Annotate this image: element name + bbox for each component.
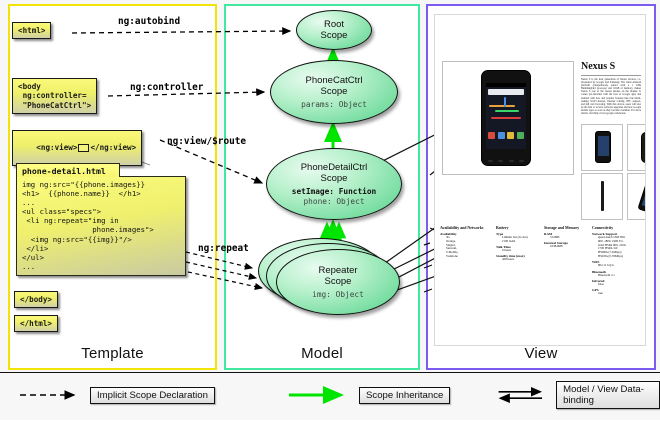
thumb-1-phone [595,131,611,163]
code-box-html-open: <html> [12,22,51,39]
app-icon-4 [517,132,524,139]
app-icon-1 [488,132,495,139]
edge-label-controller: ng:controller [130,82,203,93]
legend-item-data-binding: Model / View Data-binding [497,385,660,405]
scope-detail-line2: Scope [321,173,348,184]
nav-key-search [509,160,514,162]
phone-illustration [481,70,531,166]
thumbnail-phone-back[interactable] [627,124,646,171]
spec-val-2-1: 16384MB [544,245,592,249]
edge-label-autobind: ng:autobind [118,16,180,27]
callout-filename: phone-detail.html [16,163,120,177]
spec-val-3-2: Bluetooth 2.1 [592,274,642,278]
scope-phonedetailctrl: PhoneDetailCtrl Scope setImage: Function… [266,148,402,220]
code-box-body-open: <body ng:controller= "PhoneCatCtrl"> [12,78,97,114]
wallpaper-line-1 [489,105,515,107]
ngview-placeholder-icon [78,144,89,152]
rendered-view-page: Nexus S Nexus S is the next generation o… [434,14,646,346]
phone-screen [486,83,526,149]
spec-column-connectivity: Connectivity Network Support Quad-band G… [592,226,642,296]
product-title: Nexus S [581,61,615,72]
legend-label-implicit-scope: Implicit Scope Declaration [90,387,215,404]
scope-detail-prop-setimage-text: setImage: Function [292,187,377,196]
spec-val-3-0: Quad-band GSM 850, 900, 1800, 1900 Tri- … [592,236,642,259]
app-icon-2 [498,132,505,139]
spec-val-1-0: Lithium Ion (Li-Ion) 1500 mAh [496,236,544,244]
spec-val-3-1: 802.11 b/g/n [592,264,642,268]
spec-heading-2: Storage and Memory [544,226,592,231]
code-box-ngview: <ng:view></ng:view> [12,130,142,166]
scope-detail-prop-phone: phone: Object [303,197,364,206]
thumb-4-phone [637,178,646,213]
scope-repeater-prop-img: img: Object [312,290,364,299]
nav-key-menu [498,160,503,162]
green-arrow-icon [287,385,353,405]
wallpaper-line-4 [504,97,506,107]
thumb-1-screen [598,136,609,156]
ngview-close-tag: </ng:view> [90,143,136,152]
thumb-2-phone [641,132,646,163]
scope-root: Root Scope [296,10,372,50]
app-icon-3 [507,132,514,139]
spec-val-1-1: 6 hours [496,249,544,253]
edge-label-route: ng:view/$route [167,136,246,147]
title-divider [581,75,641,76]
spec-heading-0: Availability and Networks [440,226,492,231]
scope-repeater-line1: Repeater [318,265,357,276]
template-partial-callout: phone-detail.html img ng:src="{{phone.im… [16,163,186,276]
legend-item-implicit-scope: Implicit Scope Declaration [18,385,215,405]
spec-val-1-2: 428 hours [496,258,544,262]
ngview-open-tag: <ng:view> [36,143,77,152]
product-description: Nexus S is the next generation of Nexus … [581,78,641,115]
diagram-canvas: Template Model View [0,0,660,420]
callout-code: img ng:src="{{phone.images}} <h1> {{phon… [16,176,186,276]
code-box-html-close: </html> [14,315,58,332]
scope-detail-prop-setimage: setImage: Function [292,187,377,196]
spec-val-0-1: Orange, Singtel, Suncom, T-Mobile, Vodaf… [440,240,492,259]
scope-cat-prop-params: params: Object [301,100,367,109]
phone-search-widget [488,89,524,95]
phone-statusbar [486,83,526,87]
spec-heading-1: Battery [496,226,544,231]
thumbnail-phone-side[interactable] [581,173,623,220]
scope-phonecatctrl: PhoneCatCtrl Scope params: Object [270,60,398,124]
code-box-body-close: </body> [14,291,58,308]
spec-column-storage: Storage and Memory RAM 512MB Internal St… [544,226,592,249]
nav-key-home [519,160,524,162]
edge-label-repeat: ng:repeat [198,243,249,254]
spec-val-3-3: false [592,283,642,287]
phone-nav-keys [485,157,527,164]
thumb-4-screen [641,190,646,208]
scope-root-line1: Root [324,19,344,30]
panel-model-label: Model [226,345,418,362]
wallpaper-line-2 [495,110,519,112]
double-arrow-icon [497,385,550,405]
panel-view-label: View [428,345,654,362]
dashed-arrow-icon [18,385,84,405]
scope-cat-line2: Scope [321,86,348,97]
panel-template-label: Template [10,345,215,362]
phone-app-row [487,131,525,140]
scope-repeater-line2: Scope [325,276,352,287]
thumb-3-phone-edge [601,181,604,211]
spec-column-availability: Availability and Networks Availability 3… [440,226,492,259]
legend-label-data-binding: Model / View Data-binding [556,381,660,409]
spec-heading-3: Connectivity [592,226,642,231]
thumbnail-phone-angled[interactable] [627,173,646,220]
thumbnail-phone-front[interactable] [581,124,623,171]
nav-key-back [488,160,493,162]
legend: Implicit Scope Declaration Scope Inherit… [0,372,660,421]
scope-detail-line1: PhoneDetailCtrl [301,162,368,173]
scope-root-line2: Scope [321,30,348,41]
scope-repeater: Repeater Scope img: Object [276,249,400,315]
wallpaper-line-3 [491,117,521,119]
spec-val-3-4: true [592,292,642,296]
legend-label-scope-inheritance: Scope Inheritance [359,387,450,404]
spec-column-battery: Battery Type Lithium Ion (Li-Ion) 1500 m… [496,226,544,262]
scope-cat-line1: PhoneCatCtrl [305,75,362,86]
legend-item-scope-inheritance: Scope Inheritance [287,385,450,405]
spec-val-2-0: 512MB [544,236,592,240]
product-hero-photo [442,61,574,175]
